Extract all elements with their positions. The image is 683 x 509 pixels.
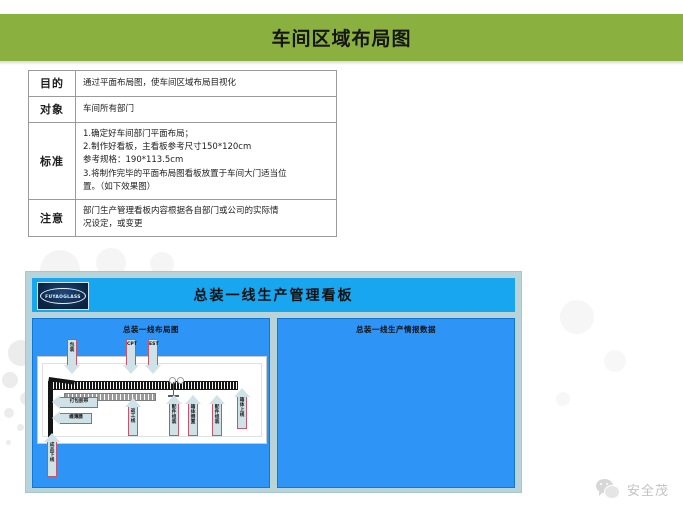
logo-oval: FUYAOGLASS bbox=[40, 288, 86, 304]
callout-label: 箱体上线 bbox=[238, 399, 246, 419]
panel-title-layout: 总装一线布局图 bbox=[33, 319, 269, 335]
spec-table: 目的 通过平面布局图，使车间区域布局目视化 对象 车间所有部门 标准 1.确定好… bbox=[28, 70, 337, 237]
table-row: 目的 通过平面布局图，使车间区域布局目视化 bbox=[29, 71, 337, 97]
arrow-head bbox=[52, 411, 60, 425]
row-value-purpose: 通过平面布局图，使车间区域布局目视化 bbox=[76, 71, 337, 97]
row-key-notice: 注意 bbox=[29, 199, 76, 236]
arrow-head bbox=[123, 365, 139, 374]
row-value-object: 车间所有部门 bbox=[76, 97, 337, 123]
row-key-object: 对象 bbox=[29, 97, 76, 123]
callout-label: 箱体倒置 bbox=[189, 406, 197, 426]
row-line: 况设定，或变更 bbox=[83, 218, 329, 231]
row-line: 部门生产管理看板内容根据各自部门或公司的实际情 bbox=[83, 205, 329, 218]
factory-layout-diagram: 包装 CPT EST 打包胶带 bbox=[37, 336, 265, 483]
callout-label: CPT bbox=[127, 343, 135, 348]
row-line: 参考规格：190*113.5cm bbox=[83, 154, 329, 167]
station-post bbox=[173, 382, 174, 396]
logo-text: FUYAOGLASS bbox=[45, 294, 81, 299]
row-line: 通过平面布局图，使车间区域布局目视化 bbox=[83, 77, 329, 90]
arrow-head bbox=[145, 365, 161, 374]
arrow-head bbox=[234, 388, 250, 397]
row-line: 车间所有部门 bbox=[83, 103, 329, 116]
table-row: 注意 部门生产管理看板内容根据各自部门或公司的实际情 况设定，或变更 bbox=[29, 199, 337, 236]
page-title-banner: 车间区域布局图 bbox=[0, 14, 683, 61]
arrow-head bbox=[185, 395, 201, 404]
row-line: 置。（如下效果图） bbox=[83, 181, 329, 194]
watermark-text: 安全茂 bbox=[627, 480, 669, 499]
callout-label: 打包胶带 bbox=[62, 400, 96, 405]
panel-layout-diagram: 总装一线布局图 bbox=[32, 318, 270, 488]
kanban-board: FUYAOGLASS 总装一线生产管理看板 总装一线布局图 bbox=[25, 271, 522, 493]
panel-production-data: 总装一线生产情报数据 bbox=[277, 318, 515, 488]
company-logo: FUYAOGLASS bbox=[37, 282, 89, 310]
conveyor-main bbox=[48, 381, 238, 390]
kanban-body: 总装一线布局图 bbox=[32, 318, 515, 488]
station-marker bbox=[177, 377, 184, 384]
table-row: 对象 车间所有部门 bbox=[29, 97, 337, 123]
row-key-purpose: 目的 bbox=[29, 71, 76, 97]
arrow-head bbox=[166, 395, 182, 404]
kanban-header: FUYAOGLASS 总装一线生产管理看板 bbox=[32, 278, 515, 312]
callout-label: 配件组装 bbox=[213, 406, 221, 426]
arrow-head bbox=[125, 398, 141, 407]
kanban-title: 总装一线生产管理看板 bbox=[194, 285, 354, 305]
spec-table-body: 目的 通过平面布局图，使车间区域布局目视化 对象 车间所有部门 标准 1.确定好… bbox=[29, 71, 337, 237]
row-value-standard: 1.确定好车间部门平面布局； 2.制作好看板，主看板参考尺寸150*120cm … bbox=[76, 123, 337, 200]
callout-label: EST bbox=[149, 343, 157, 348]
arrow-head bbox=[52, 395, 60, 409]
conveyor-left-vertical bbox=[48, 381, 53, 437]
callout-label: 缠薄膜 bbox=[62, 416, 90, 421]
row-value-notice: 部门生产管理看板内容根据各自部门或公司的实际情 况设定，或变更 bbox=[76, 199, 337, 236]
row-line: 2.制作好看板，主看板参考尺寸150*120cm bbox=[83, 141, 329, 154]
arrow-head bbox=[44, 433, 60, 442]
row-line: 3.将制作完毕的平面布局图看板放置于车间大门适当位 bbox=[83, 168, 329, 181]
callout-label: 返工线 bbox=[129, 410, 137, 425]
wechat-icon bbox=[596, 479, 620, 499]
callout-label: 包装 bbox=[68, 344, 76, 354]
watermark: 安全茂 bbox=[596, 479, 669, 499]
callout-label: 成品下线 bbox=[48, 444, 56, 464]
page-title: 车间区域布局图 bbox=[271, 24, 411, 51]
row-key-standard: 标准 bbox=[29, 123, 76, 200]
panel-title-production-data: 总装一线生产情报数据 bbox=[278, 319, 514, 335]
wechat-bubble-small bbox=[604, 485, 620, 499]
arrow-head bbox=[209, 395, 225, 404]
callout-label: 配件组装 bbox=[170, 406, 178, 426]
row-line: 1.确定好车间部门平面布局； bbox=[83, 128, 329, 141]
arrow-head bbox=[64, 365, 80, 374]
table-row: 标准 1.确定好车间部门平面布局； 2.制作好看板，主看板参考尺寸150*120… bbox=[29, 123, 337, 200]
banner-shadow bbox=[0, 61, 683, 65]
